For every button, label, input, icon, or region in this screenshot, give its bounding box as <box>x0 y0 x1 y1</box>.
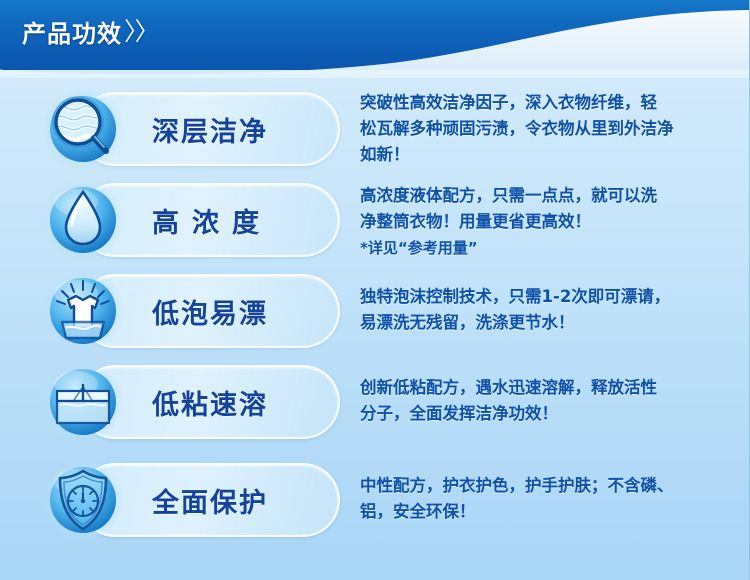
desc-line: 如新！ <box>360 142 740 168</box>
desc-line: 铝，安全环保！ <box>360 499 740 525</box>
desc-line: 高浓度液体配方，只需一点点，就可以洗 <box>360 183 740 209</box>
feature-row-fast-dissolve[interactable]: 低粘速溶 创新低粘配方，遇水迅速溶解，释放活性 分子，全面发挥洁净功效！ <box>0 357 750 447</box>
dissolving-basin-icon <box>42 361 124 443</box>
desc-line: 分子，全面发挥洁净功效！ <box>360 401 740 427</box>
feature-row-full-protection[interactable]: 全面保护 中性配方，护衣护色，护手护肤；不含磷、 铝，安全环保！ <box>0 455 750 545</box>
feature-row-low-foam[interactable]: 低泡易漂 独特泡沫控制技术，只需1-2次即可漂请， 易漂洗无残留，洗涤更节水！ <box>0 266 750 356</box>
page-title: 产品功效 <box>22 14 122 49</box>
feature-row-deep-clean[interactable]: 深层洁净 突破性高效洁净因子，深入衣物纤维，轻 松瓦解多种顽固污渍，令衣物从里到… <box>0 84 750 174</box>
desc-line: 突破性高效洁净因子，深入衣物纤维，轻 <box>360 90 740 116</box>
feature-row-high-concentration[interactable]: 高浓度 高浓度液体配方，只需一点点，就可以洗 净整筒衣物！用量更省更高效！ *详… <box>0 175 750 265</box>
feature-label: 低泡易漂 <box>152 274 342 348</box>
feature-description: 高浓度液体配方，只需一点点，就可以洗 净整筒衣物！用量更省更高效！ *详见“参考… <box>360 183 740 261</box>
double-chevron-right-icon: 〉〉 <box>124 12 158 48</box>
feature-label: 高浓度 <box>152 183 342 257</box>
desc-line: 净整筒衣物！用量更省更高效！ <box>360 209 740 235</box>
feature-description: 独特泡沫控制技术，只需1-2次即可漂请， 易漂洗无残留，洗涤更节水！ <box>360 284 740 336</box>
desc-note: *详见“参考用量” <box>360 235 740 261</box>
desc-line: 中性配方，护衣护色，护手护肤；不含磷、 <box>360 473 740 499</box>
feature-description: 突破性高效洁净因子，深入衣物纤维，轻 松瓦解多种顽固污渍，令衣物从里到外洁净 如… <box>360 90 740 168</box>
feature-description: 中性配方，护衣护色，护手护肤；不含磷、 铝，安全环保！ <box>360 473 740 525</box>
feature-label: 全面保护 <box>152 463 342 537</box>
shield-clock-icon <box>42 459 124 541</box>
desc-line: 易漂洗无残留，洗涤更节水！ <box>360 310 740 336</box>
shirt-basin-sparkle-icon <box>42 270 124 352</box>
feature-description: 创新低粘配方，遇水迅速溶解，释放活性 分子，全面发挥洁净功效！ <box>360 375 740 427</box>
magnifier-fabric-icon <box>42 88 124 170</box>
desc-line: 独特泡沫控制技术，只需1-2次即可漂请， <box>360 284 740 310</box>
desc-line: 创新低粘配方，遇水迅速溶解，释放活性 <box>360 375 740 401</box>
page-header: 产品功效 〉〉 <box>0 0 750 78</box>
feature-label: 深层洁净 <box>152 92 342 166</box>
feature-label: 低粘速溶 <box>152 365 342 439</box>
water-drop-icon <box>42 179 124 261</box>
desc-line: 松瓦解多种顽固污渍，令衣物从里到外洁净 <box>360 116 740 142</box>
product-features-page: 产品功效 〉〉 <box>0 0 750 580</box>
